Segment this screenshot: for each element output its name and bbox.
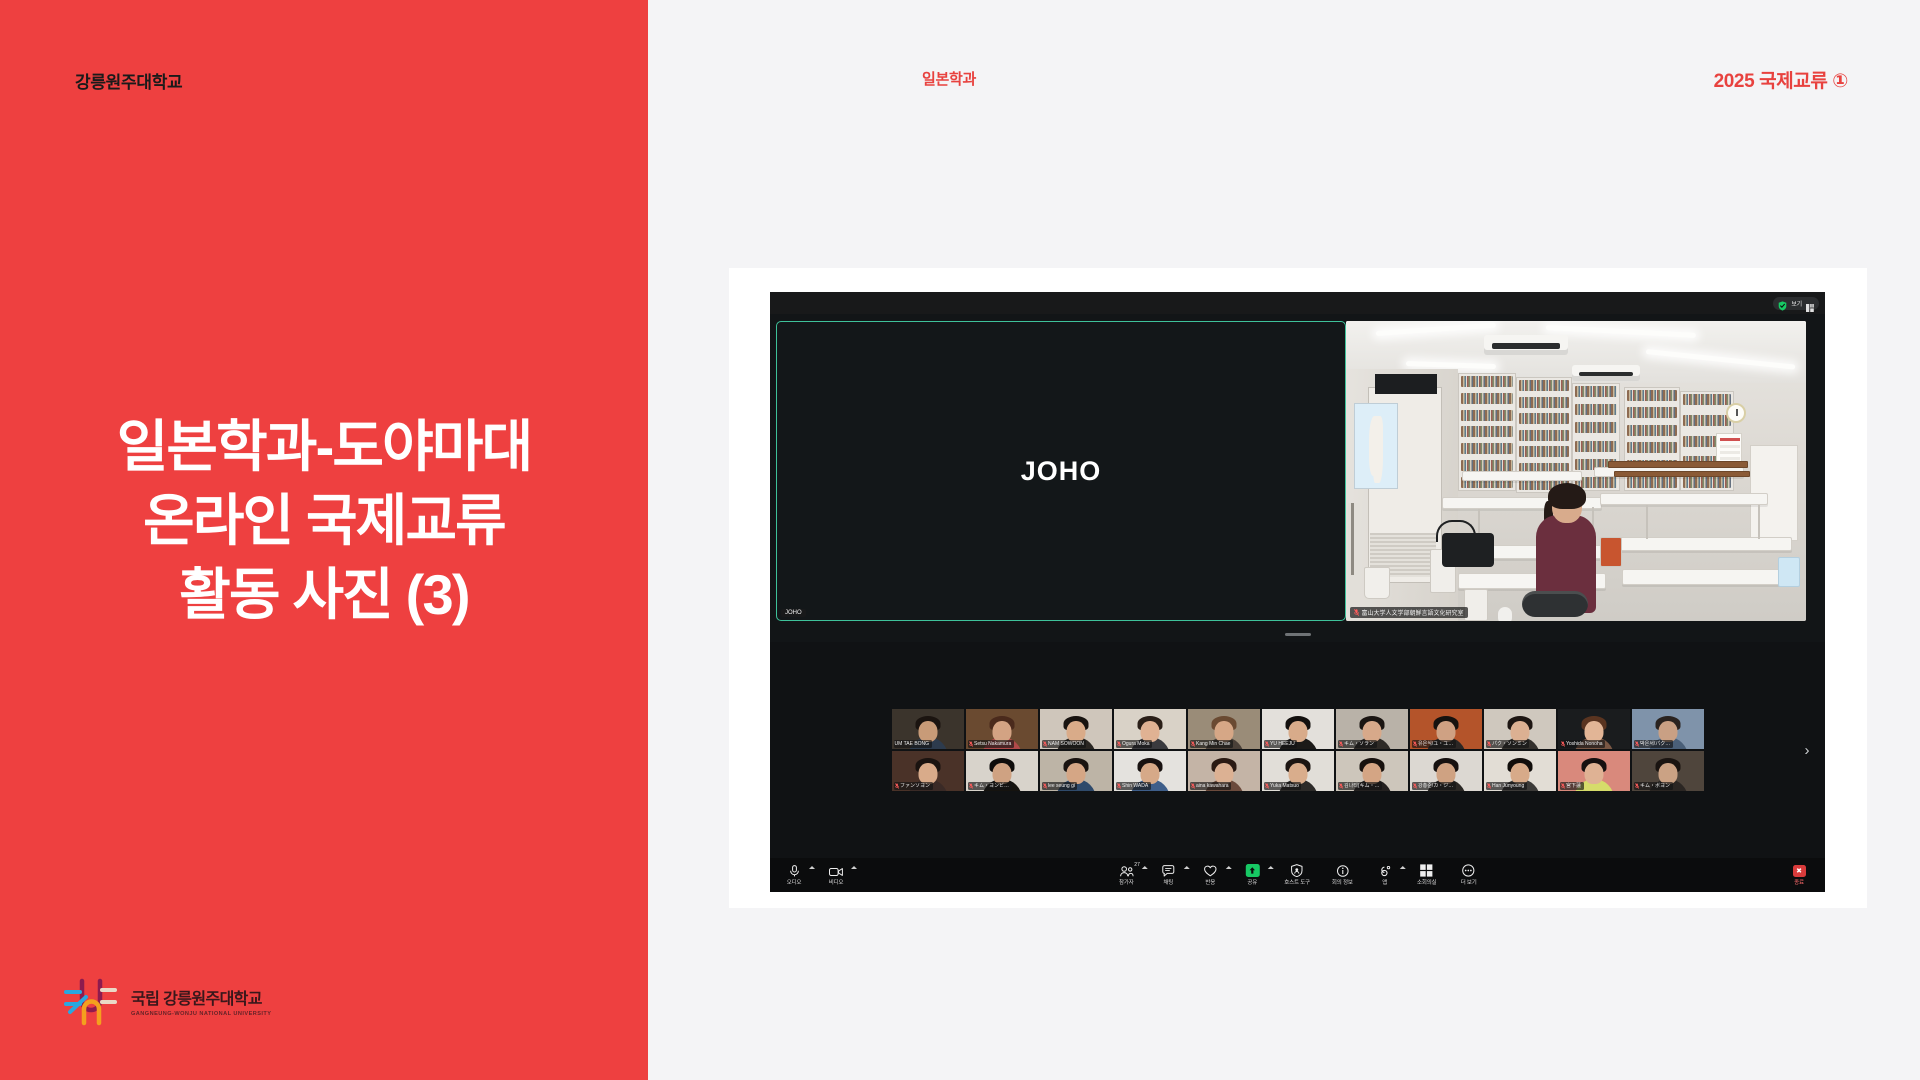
participant-face xyxy=(1214,721,1233,742)
participant-thumbnail[interactable]: 박은서/パク… xyxy=(1632,709,1704,749)
view-label: 보기 xyxy=(1791,299,1802,308)
participant-name-badge: キム・ヨンビ… xyxy=(968,782,1012,790)
participant-name-badge: Han Junyoung xyxy=(1486,782,1527,790)
participant-strip-row-2: ファンソヨンキム・ヨンビ…lee seung giShin WADAaina k… xyxy=(892,751,1704,791)
participant-name: lee seung gi xyxy=(1048,782,1075,790)
mic-muted-icon xyxy=(969,741,973,747)
participant-face xyxy=(1658,763,1677,784)
participant-face xyxy=(992,721,1011,742)
participant-face xyxy=(1510,721,1529,742)
toolbar-button-label: 앱 xyxy=(1382,878,1387,886)
participant-name: Han Junyoung xyxy=(1492,782,1524,790)
mic-muted-icon xyxy=(1265,741,1269,747)
toolbar-left-group: 오디오비디오 xyxy=(784,864,846,886)
participant-thumbnail[interactable]: lee seung gi xyxy=(1040,751,1112,791)
classroom-scene-image xyxy=(1346,321,1806,621)
university-label: 강릉원주대학교 xyxy=(75,68,182,93)
participant-thumbnail[interactable]: Shin WADA xyxy=(1114,751,1186,791)
participant-name: 강총준/カ・ジ… xyxy=(1418,782,1453,790)
participant-face xyxy=(1436,721,1455,742)
toolbar-button-label: 반응 xyxy=(1205,878,1215,886)
drag-handle-icon[interactable] xyxy=(1285,633,1311,636)
participant-thumbnail[interactable]: Kang Min Chae xyxy=(1188,709,1260,749)
spotlight-participant-name: 富山大学人文学部朝鮮言語文化研究室 xyxy=(1362,608,1464,617)
participant-thumbnail[interactable]: NAM SOWOON xyxy=(1040,709,1112,749)
participant-thumbnail[interactable]: Ogura Moka xyxy=(1114,709,1186,749)
mic-muted-icon xyxy=(1117,741,1121,747)
participant-face xyxy=(1584,721,1603,742)
participant-name: キム・ソラン xyxy=(1344,740,1374,748)
toolbar-button-label: 공유 xyxy=(1247,878,1257,886)
participant-name: aina kawahara xyxy=(1196,782,1229,790)
participant-name-badge: Kang Min Chae xyxy=(1190,740,1233,748)
mic-muted-icon xyxy=(1191,783,1195,789)
toolbar-center-group: 27참가자채팅반응공유호스트 도구회의 정보앱소회의실더 보기 xyxy=(1116,864,1478,886)
toolbar-button-label: 채팅 xyxy=(1163,878,1173,886)
host-tools-shield-icon xyxy=(1291,864,1303,877)
mic-muted-icon xyxy=(1117,783,1121,789)
participant-name: Shin WADA xyxy=(1122,782,1148,790)
spotlight-video-tile[interactable]: 富山大学人文学部朝鮮言語文化研究室 xyxy=(1346,321,1806,621)
participant-face xyxy=(1288,721,1307,742)
toolbar-button-label: 종료 xyxy=(1794,878,1804,886)
presentation-slide: 강릉원주대학교 일본학과-도야마대 온라인 국제교류 활동 사진 (3) 국립 … xyxy=(0,0,1920,1080)
participant-thumbnail[interactable]: 강총준/カ・ジ… xyxy=(1410,751,1482,791)
mic-muted-icon xyxy=(1265,783,1269,789)
logo-wordmark: 국립 강릉원주대학교 GANGNEUNG-WONJU NATIONAL UNIV… xyxy=(131,985,271,1017)
participant-face xyxy=(1288,763,1307,784)
toolbar-button-chat[interactable]: 채팅 xyxy=(1158,864,1178,886)
info-circle-icon xyxy=(1336,864,1348,877)
toolbar-button-label: 호스트 도구 xyxy=(1284,878,1310,886)
mic-muted-icon xyxy=(1561,741,1565,747)
participant-name-badge: Yoshida Nonoha xyxy=(1560,740,1606,748)
participant-face xyxy=(1584,763,1603,784)
apps-icon xyxy=(1378,864,1391,877)
chevron-up-icon[interactable] xyxy=(1225,866,1231,869)
zoom-main-stage: JOHO JOHO xyxy=(770,314,1825,626)
participant-name: YU HEEJU xyxy=(1270,740,1295,748)
participant-name-badge: ファンソヨン xyxy=(894,782,933,790)
participant-name-badge: 김나티(キム・… xyxy=(1338,782,1382,790)
zoom-toolbar: 오디오비디오 27참가자채팅반응공유호스트 도구회의 정보앱소회의실더 보기 ✖… xyxy=(770,858,1825,892)
participant-face xyxy=(1658,721,1677,742)
chevron-up-icon[interactable] xyxy=(1267,866,1273,869)
participant-face xyxy=(1510,763,1529,784)
chat-icon xyxy=(1162,864,1175,877)
participant-name: 유은식/ユ・ユ… xyxy=(1418,740,1453,748)
participant-face xyxy=(1066,763,1085,784)
participant-name: キム・ボヨン xyxy=(1640,782,1670,790)
mic-muted-icon xyxy=(1043,741,1047,747)
participant-name-badge: NAM SOWOON xyxy=(1042,740,1087,748)
mic-muted-icon xyxy=(1635,741,1639,747)
toolbar-button-label: 참가자 xyxy=(1119,878,1134,886)
toolbar-button-reactions-heart[interactable]: 반응 xyxy=(1200,864,1220,886)
participant-name: キム・ヨンビ… xyxy=(974,782,1009,790)
participant-name: Setsu Nakamura xyxy=(974,740,1011,748)
chevron-right-icon[interactable]: › xyxy=(1799,735,1815,765)
chevron-up-icon[interactable] xyxy=(809,866,815,869)
participant-name-badge: キム・ソラン xyxy=(1338,740,1377,748)
participant-name: 宮下蓮 xyxy=(1566,782,1581,790)
participant-name-badge: 강총준/カ・ジ… xyxy=(1412,782,1456,790)
participant-face xyxy=(1140,721,1159,742)
toolbar-button-label: 오디오 xyxy=(787,878,802,886)
spotlight-name-badge: 富山大学人文学部朝鮮言語文化研究室 xyxy=(1350,607,1468,618)
shared-screen-content: JOHO xyxy=(1021,456,1102,487)
stage-resize-divider[interactable] xyxy=(770,626,1825,642)
mic-muted-icon xyxy=(969,783,973,789)
participant-face xyxy=(918,763,937,784)
participant-face xyxy=(1362,763,1381,784)
toolbar-button-apps[interactable]: 앱 xyxy=(1375,864,1395,886)
toolbar-button-host-tools-shield[interactable]: 호스트 도구 xyxy=(1284,864,1310,886)
participant-name: Yoshida Nonoha xyxy=(1566,740,1603,748)
toolbar-button-microphone[interactable]: 오디오 xyxy=(784,864,804,886)
mic-muted-icon xyxy=(1635,783,1639,789)
participant-name: パク・ソンミン xyxy=(1492,740,1527,748)
chevron-up-icon[interactable] xyxy=(1183,866,1189,869)
participants-icon: 27 xyxy=(1119,864,1133,877)
screenshot-card: 보기 JOHO J xyxy=(729,268,1867,908)
participant-strip: UM TAE BONGSetsu NakamuraNAM SOWOONOgura… xyxy=(770,642,1825,858)
chevron-up-icon[interactable] xyxy=(851,866,857,869)
camera-icon xyxy=(829,864,843,877)
chevron-up-icon[interactable] xyxy=(1400,866,1406,869)
toolbar-button-breakout-rooms[interactable]: 소회의실 xyxy=(1417,864,1437,886)
mic-muted-icon xyxy=(895,783,899,789)
toolbar-button-label: 더 보기 xyxy=(1461,878,1477,886)
participant-thumbnail[interactable]: パク・ソンミン xyxy=(1484,709,1556,749)
participant-name: 박은서/パク… xyxy=(1640,740,1670,748)
toolbar-button-more-ellipsis[interactable]: 더 보기 xyxy=(1459,864,1479,886)
participant-name-badge: Shin WADA xyxy=(1116,782,1151,790)
participant-thumbnail[interactable]: 김나티(キム・… xyxy=(1336,751,1408,791)
reactions-heart-icon xyxy=(1204,864,1217,877)
participant-thumbnail[interactable]: Setsu Nakamura xyxy=(966,709,1038,749)
mic-muted-icon xyxy=(1487,741,1491,747)
series-label: 2025 국제교류 ① xyxy=(1714,66,1848,93)
participant-face xyxy=(1214,763,1233,784)
participant-face xyxy=(1362,721,1381,742)
participant-name-badge: 宮下蓮 xyxy=(1560,782,1584,790)
toolbar-button-label: 회의 정보 xyxy=(1332,878,1353,886)
participant-name-badge: UM TAE BONG xyxy=(894,740,932,748)
shared-screen-name-badge: JOHO xyxy=(781,609,806,617)
participant-name: Ogura Moka xyxy=(1122,740,1150,748)
logo-english-name: GANGNEUNG-WONJU NATIONAL UNIVERSITY xyxy=(131,1011,271,1017)
breakout-rooms-icon xyxy=(1420,864,1433,877)
participant-name-badge: Ogura Moka xyxy=(1116,740,1153,748)
participant-name-badge: パク・ソンミン xyxy=(1486,740,1530,748)
mic-muted-icon xyxy=(1413,741,1417,747)
participant-name-badge: Setsu Nakamura xyxy=(968,740,1014,748)
participant-thumbnail[interactable]: 유은식/ユ・ユ… xyxy=(1410,709,1482,749)
participant-face xyxy=(1140,763,1159,784)
toolbar-button-end-meeting[interactable]: ✖종료 xyxy=(1789,864,1809,886)
layout-grid-icon[interactable] xyxy=(1806,299,1814,307)
page-title: 일본학과-도야마대 온라인 국제교류 활동 사진 (3) xyxy=(0,410,648,632)
toolbar-button-info-circle[interactable]: 회의 정보 xyxy=(1332,864,1353,886)
mic-muted-icon xyxy=(1413,783,1417,789)
participant-name: ファンソヨン xyxy=(900,782,930,790)
more-ellipsis-icon xyxy=(1462,864,1475,877)
participant-thumbnail[interactable]: UM TAE BONG xyxy=(892,709,964,749)
participant-name: 김나티(キム・… xyxy=(1344,782,1379,790)
participant-name-badge: Yuka Matsuo xyxy=(1264,782,1302,790)
toolbar-right-group: ✖종료 xyxy=(1789,864,1809,886)
participant-face xyxy=(992,763,1011,784)
chevron-up-icon[interactable] xyxy=(1141,866,1147,869)
toolbar-button-label: 비디오 xyxy=(829,878,844,886)
shield-check-icon xyxy=(1778,298,1787,308)
end-meeting-icon: ✖ xyxy=(1793,864,1806,877)
participant-name-badge: 박은서/パク… xyxy=(1634,740,1673,748)
participant-face xyxy=(918,721,937,742)
participant-thumbnail[interactable]: Yuka Matsuo xyxy=(1262,751,1334,791)
zoom-top-bar: 보기 xyxy=(770,292,1825,314)
mic-muted-icon xyxy=(1354,609,1359,616)
participant-name: NAM SOWOON xyxy=(1048,740,1084,748)
participant-face xyxy=(1436,763,1455,784)
shared-screen-pane[interactable]: JOHO JOHO xyxy=(776,321,1346,621)
mic-muted-icon xyxy=(1191,741,1195,747)
participant-name-badge: aina kawahara xyxy=(1190,782,1232,790)
mic-muted-icon xyxy=(1487,783,1491,789)
share-screen-icon xyxy=(1245,864,1259,877)
toolbar-button-camera[interactable]: 비디오 xyxy=(826,864,846,886)
view-control-pill[interactable]: 보기 xyxy=(1773,297,1819,310)
participants-count-badge: 27 xyxy=(1134,862,1140,868)
toolbar-button-label: 소회의실 xyxy=(1417,878,1436,886)
participant-name-badge: lee seung gi xyxy=(1042,782,1078,790)
logo-symbol-icon xyxy=(62,973,120,1029)
participant-name-badge: 유은식/ユ・ユ… xyxy=(1412,740,1456,748)
red-title-panel: 강릉원주대학교 일본학과-도야마대 온라인 국제교류 활동 사진 (3) 국립 … xyxy=(0,0,648,1080)
logo-korean-name: 국립 강릉원주대학교 xyxy=(131,985,271,1009)
zoom-meeting-window: 보기 JOHO J xyxy=(770,292,1825,892)
toolbar-button-participants[interactable]: 27참가자 xyxy=(1116,864,1136,886)
participant-thumbnail[interactable]: キム・ソラン xyxy=(1336,709,1408,749)
participant-name: Kang Min Chae xyxy=(1196,740,1230,748)
mic-muted-icon xyxy=(1561,783,1565,789)
participant-strip-row-1: UM TAE BONGSetsu NakamuraNAM SOWOONOgura… xyxy=(892,709,1704,749)
participant-thumbnail[interactable]: Han Junyoung xyxy=(1484,751,1556,791)
participant-thumbnail[interactable]: 宮下蓮 xyxy=(1558,751,1630,791)
participant-face xyxy=(1066,721,1085,742)
department-label: 일본학과 xyxy=(922,68,976,89)
mic-muted-icon xyxy=(1043,783,1047,789)
university-logo: 국립 강릉원주대학교 GANGNEUNG-WONJU NATIONAL UNIV… xyxy=(62,973,271,1029)
presenter-name: JOHO xyxy=(785,610,802,616)
end-meeting-icon: ✖ xyxy=(1793,865,1806,877)
participant-thumbnail[interactable]: YU HEEJU xyxy=(1262,709,1334,749)
participant-thumbnail[interactable]: Yoshida Nonoha xyxy=(1558,709,1630,749)
toolbar-button-share-screen[interactable]: 공유 xyxy=(1242,864,1262,886)
participant-thumbnail[interactable]: キム・ボヨン xyxy=(1632,751,1704,791)
microphone-icon xyxy=(789,864,800,877)
mic-muted-icon xyxy=(1339,783,1343,789)
participant-name-badge: キム・ボヨン xyxy=(1634,782,1673,790)
participant-name: UM TAE BONG xyxy=(895,740,930,748)
participant-thumbnail[interactable]: ファンソヨン xyxy=(892,751,964,791)
participant-thumbnail[interactable]: キム・ヨンビ… xyxy=(966,751,1038,791)
participant-name: Yuka Matsuo xyxy=(1270,782,1299,790)
mic-muted-icon xyxy=(1339,741,1343,747)
participant-thumbnail[interactable]: aina kawahara xyxy=(1188,751,1260,791)
participant-name-badge: YU HEEJU xyxy=(1264,740,1298,748)
